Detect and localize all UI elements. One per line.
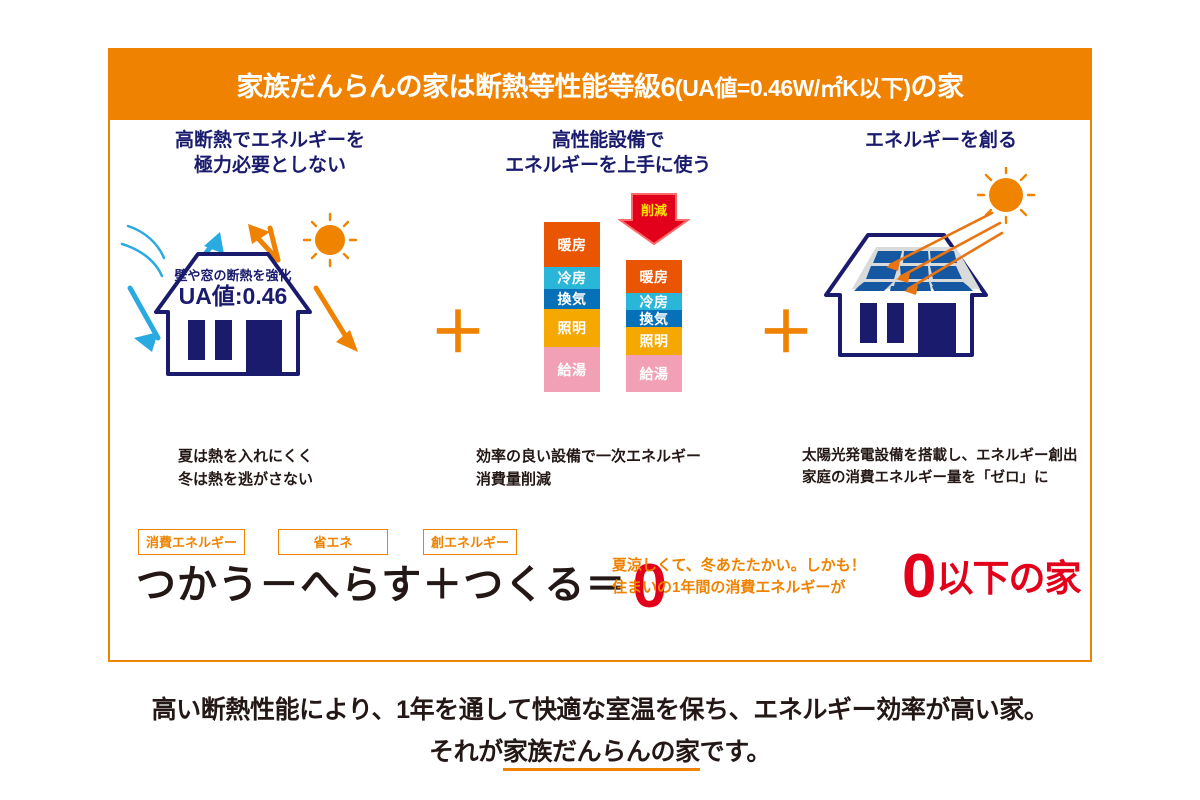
column-insulation-title: 高断熱でエネルギーを 極力必要としない	[120, 128, 420, 178]
equation-side-note: 夏涼しくて、冬あたたかい。しかも！ 住まいの1年間の消費エネルギーが	[612, 555, 866, 599]
bar-before-seg-lighting: 照明	[544, 309, 600, 347]
solar-house-svg	[796, 167, 1086, 367]
bar-after-seg-lighting: 照明	[626, 327, 682, 355]
column-insulation: 高断熱でエネルギーを 極力必要としない	[120, 128, 420, 392]
column-generation: エネルギーを創る	[796, 128, 1086, 367]
bar-before-seg-heating: 暖房	[544, 222, 600, 267]
insulation-illustration: 壁や窓の断熱を強化 UA値:0.46	[120, 192, 420, 392]
stacked-bars: 削減 暖房 冷房 換気 照明 給湯 暖房 冷房 換気 照明	[458, 192, 758, 392]
sun-icon	[304, 214, 356, 266]
column-equipment-title: 高性能設備で エネルギーを上手に使う	[458, 128, 758, 178]
caption-equipment-line1: 効率の良い設備で一次エネルギー	[476, 448, 701, 465]
equation-tail-text: 以下の家	[936, 558, 1080, 599]
equation-side-note-line1: 夏涼しくて、冬あたたかい。しかも！	[612, 557, 866, 574]
solar-illustration	[796, 167, 1086, 367]
equation-side-note-line2: 住まいの1年間の消費エネルギーが	[612, 579, 845, 596]
footer-text: 高い断熱性能により、1年を通して快適な室温を保ち、エネルギー効率が高い家。 それ…	[0, 690, 1200, 773]
bar-after-seg-ventilation: 換気	[626, 310, 682, 327]
header-title-paren: (UA値=0.46W/㎡K以下)	[675, 75, 910, 101]
reduction-arrow-label: 削減	[618, 200, 690, 219]
equation-formula: つかう－へらす＋つくる＝0	[136, 552, 668, 610]
column-generation-title-line1: エネルギーを創る	[865, 130, 1017, 151]
header-bar: 家族だんらんの家は断熱等性能等級6(UA値=0.46W/㎡K以下)の家	[108, 48, 1092, 120]
header-title-main: 家族だんらんの家は断熱等性能等級6	[237, 72, 676, 102]
column-insulation-title-line2: 極力必要としない	[194, 155, 346, 176]
bar-after: 暖房 冷房 換気 照明 給湯	[626, 260, 682, 392]
column-equipment-title-line2: エネルギーを上手に使う	[505, 155, 711, 176]
footer-line2-prefix: それが	[429, 738, 503, 766]
caption-insulation-line1: 夏は熱を入れにくく	[178, 448, 313, 465]
bar-before-seg-hotwater: 給湯	[544, 347, 600, 392]
bar-before-seg-cooling: 冷房	[544, 267, 600, 289]
footer-line2: それが家族だんらんの家です。	[0, 732, 1200, 774]
page-title: 家族だんらんの家は断熱等性能等級6(UA値=0.46W/㎡K以下)の家	[237, 65, 964, 104]
caption-insulation: 夏は熱を入れにくく 冬は熱を逃がさない	[178, 446, 313, 491]
insulation-svg: 壁や窓の断熱を強化 UA値:0.46	[120, 192, 420, 392]
caption-equipment-line2: 消費量削減	[476, 471, 551, 488]
bar-after-seg-cooling: 冷房	[626, 293, 682, 310]
header-title-end: の家	[910, 72, 963, 102]
columns-area: ＋ ＋ 高断熱でエネルギーを 極力必要としない	[110, 128, 1090, 508]
footer-brand-name: 家族だんらんの家	[503, 738, 700, 771]
bar-after-seg-heating: 暖房	[626, 260, 682, 293]
footer-line1: 高い断熱性能により、1年を通して快適な室温を保ち、エネルギー効率が高い家。	[0, 690, 1200, 732]
footer-line2-suffix: です。	[700, 738, 771, 766]
column-insulation-title-line1: 高断熱でエネルギーを	[175, 130, 365, 151]
house-label-small: 壁や窓の断熱を強化	[174, 268, 291, 283]
caption-generation-line2: 家庭の消費エネルギー量を「ゼロ」に	[802, 470, 1049, 486]
energy-bar-chart: 削減 暖房 冷房 換気 照明 給湯 暖房 冷房 換気 照明	[458, 192, 758, 392]
bar-after-seg-hotwater: 給湯	[626, 355, 682, 392]
equation-formula-text: つかう－へらす＋つくる＝	[136, 563, 626, 607]
infographic-root: 家族だんらんの家は断熱等性能等級6(UA値=0.46W/㎡K以下)の家 ＋ ＋ …	[0, 0, 1200, 800]
equation-tail: 0以下の家	[902, 548, 1080, 605]
column-equipment: 高性能設備で エネルギーを上手に使う 削減 暖房 冷房 換気 照明	[458, 128, 758, 392]
caption-insulation-line2: 冬は熱を逃がさない	[178, 471, 313, 488]
caption-equipment: 効率の良い設備で一次エネルギー 消費量削減	[476, 446, 701, 491]
bar-before-seg-ventilation: 換気	[544, 289, 600, 309]
bar-before: 暖房 冷房 換気 照明 給湯	[544, 222, 600, 392]
equation-tail-zero: 0	[902, 542, 936, 611]
caption-generation: 太陽光発電設備を搭載し、エネルギー創出 家庭の消費エネルギー量を「ゼロ」に	[802, 446, 1078, 490]
caption-generation-line1: 太陽光発電設備を搭載し、エネルギー創出	[802, 448, 1078, 464]
house-label-value: UA値:0.46	[179, 283, 288, 309]
column-generation-title: エネルギーを創る	[796, 128, 1086, 153]
column-equipment-title-line1: 高性能設備で	[552, 130, 664, 151]
